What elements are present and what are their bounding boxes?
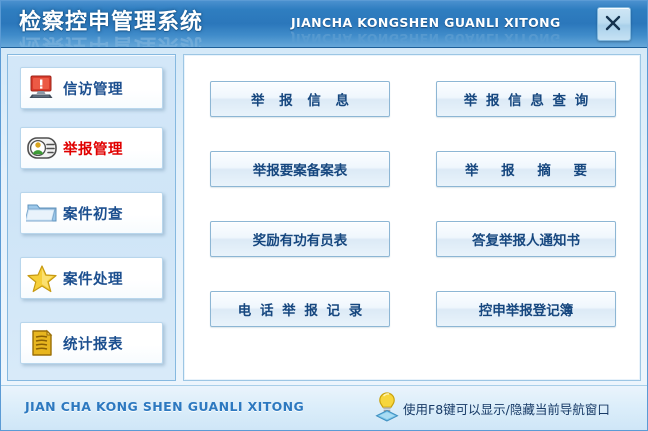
close-button[interactable] — [597, 7, 631, 41]
monitor-alert-icon — [21, 68, 63, 108]
button-jiangli-yougong-yuanbiao[interactable]: 奖励有功有员表 — [210, 221, 390, 257]
button-jubao-xinxi[interactable]: 举 报 信 息 — [210, 81, 390, 117]
sidebar-item-chuli[interactable]: 案件处理 — [20, 257, 163, 299]
title-bar: 检察控申管理系统 检察控申管理系统 JIANCHA KONGSHEN GUANL… — [1, 1, 647, 48]
status-bar: JIAN CHA KONG SHEN GUANLI XITONG 使用F8键可以… — [1, 385, 647, 430]
button-kongshen-jubao-dengjibu[interactable]: 控申举报登记簿 — [436, 291, 616, 327]
sidebar-item-label: 统计报表 — [63, 333, 123, 354]
button-jubao-xinxi-chaxun[interactable]: 举 报 信 息 查 询 — [436, 81, 616, 117]
function-button-grid: 举 报 信 息 举 报 信 息 查 询 举报要案备案表 举 报 摘 要 奖励有功… — [210, 81, 616, 327]
sidebar-item-label: 信访管理 — [63, 78, 123, 99]
star-icon — [21, 258, 63, 298]
sidebar-item-xinfang[interactable]: 信访管理 — [20, 67, 163, 109]
sidebar: 信访管理 举报管理 — [7, 54, 176, 381]
main-panel: 举 报 信 息 举 报 信 息 查 询 举报要案备案表 举 报 摘 要 奖励有功… — [183, 54, 641, 381]
folder-icon — [21, 193, 63, 233]
button-dianhua-jubao-jilu[interactable]: 电 话 举 报 记 录 — [210, 291, 390, 327]
button-jubao-yaoan-beianbiao[interactable]: 举报要案备案表 — [210, 151, 390, 187]
sidebar-item-baobiao[interactable]: 统计报表 — [20, 322, 163, 364]
contact-card-icon — [21, 128, 63, 168]
button-dafu-jubaoren-tongzhishu[interactable]: 答复举报人通知书 — [436, 221, 616, 257]
title-pinyin: JIANCHA KONGSHEN GUANLI XITONG — [291, 15, 561, 30]
status-hint-text: 使用F8键可以显示/隐藏当前导航窗口 — [403, 399, 610, 418]
sidebar-item-label: 举报管理 — [63, 138, 123, 159]
sidebar-item-jubao[interactable]: 举报管理 — [20, 127, 163, 169]
lightbulb-icon — [373, 391, 401, 427]
sidebar-item-chucha[interactable]: 案件初查 — [20, 192, 163, 234]
application-window: 检察控申管理系统 检察控申管理系统 JIANCHA KONGSHEN GUANL… — [0, 0, 648, 431]
button-jubao-zhaiyao[interactable]: 举 报 摘 要 — [436, 151, 616, 187]
report-scroll-icon — [21, 323, 63, 363]
sidebar-item-label: 案件处理 — [63, 268, 123, 289]
status-left-text: JIAN CHA KONG SHEN GUANLI XITONG — [25, 399, 304, 414]
page-title: 检察控申管理系统 — [19, 4, 203, 36]
title-pinyin-reflection: JIANCHA KONGSHEN GUANLI XITONG — [291, 31, 561, 46]
sidebar-item-label: 案件初查 — [63, 203, 123, 224]
